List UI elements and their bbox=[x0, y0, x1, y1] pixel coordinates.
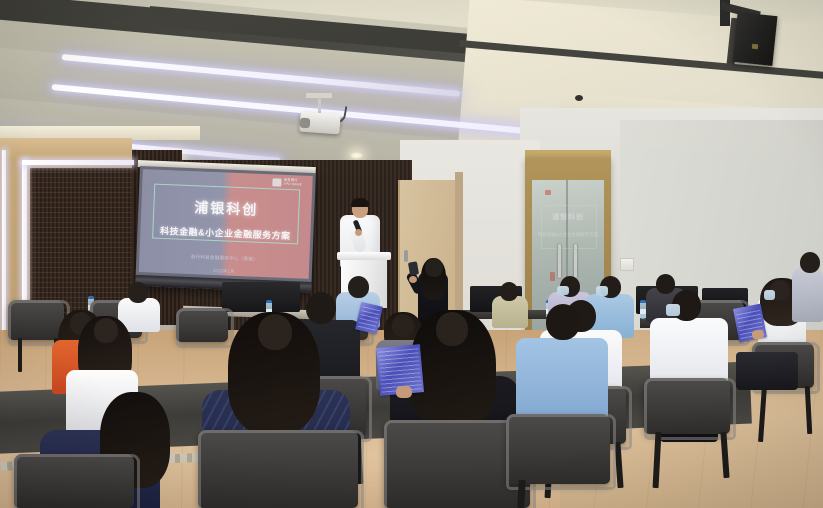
wall-led-strip-horizontal bbox=[22, 160, 134, 165]
chair-leg bbox=[18, 338, 22, 372]
chair-8[interactable] bbox=[506, 414, 610, 484]
downlight-3 bbox=[350, 152, 363, 159]
photographer-head bbox=[425, 258, 443, 277]
attendee-head-4 bbox=[306, 292, 336, 324]
presentation-slide: 浦发银行 SPD BANK 浦银科创 科技金融&小企业金融服务方案 各行科技金融… bbox=[139, 169, 313, 279]
door-frame bbox=[455, 172, 463, 322]
wall-speaker bbox=[732, 12, 777, 66]
glass-reflection-title: 浦银科创 bbox=[538, 212, 598, 222]
bank-logo-line2: SPD BANK bbox=[283, 182, 302, 187]
emergency-light-icon bbox=[545, 190, 551, 195]
chair-empty-1[interactable] bbox=[8, 300, 64, 340]
attendee-head-edge bbox=[800, 252, 820, 273]
face-mask-13 bbox=[764, 290, 775, 300]
presenter-hand bbox=[355, 229, 362, 236]
attendee-head-3 bbox=[258, 314, 292, 350]
attendee-head-15 bbox=[656, 274, 675, 294]
ceiling-sensor-icon bbox=[575, 95, 583, 101]
slide-organization: 各行科技金融服务中心（原稿） bbox=[139, 252, 309, 265]
glass-reflection-subtitle: 科技金融&小企业金融服务方案 bbox=[536, 232, 600, 238]
face-mask-12 bbox=[596, 286, 608, 296]
conference-room-photo: 浦发银行 SPD BANK 浦银科创 科技金融&小企业金融服务方案 各行科技金融… bbox=[0, 0, 823, 508]
wood-wall-frame-top bbox=[0, 138, 132, 160]
chair-front-left[interactable] bbox=[14, 454, 134, 508]
chair-leg bbox=[517, 480, 525, 508]
projector-lens-icon bbox=[300, 118, 311, 129]
chair-empty-3[interactable] bbox=[176, 308, 228, 342]
attendee-head-2 bbox=[94, 318, 118, 343]
attendee-head-7 bbox=[348, 276, 369, 298]
glass-door-handle-right[interactable] bbox=[574, 244, 577, 278]
door-handle-icon[interactable] bbox=[404, 250, 408, 262]
projection-screen: 浦发银行 SPD BANK 浦银科创 科技金融&小企业金融服务方案 各行科技金融… bbox=[135, 166, 316, 293]
fire-extinguisher-icon bbox=[550, 272, 555, 281]
face-mask-11 bbox=[557, 286, 569, 295]
attendee-head-6 bbox=[436, 312, 468, 346]
wall-led-strip-edge bbox=[2, 150, 6, 340]
bank-logo-mark-icon bbox=[272, 178, 281, 186]
bank-logo: 浦发银行 SPD BANK bbox=[272, 177, 306, 187]
light-switch[interactable] bbox=[620, 258, 634, 271]
photographer-hand bbox=[409, 276, 417, 283]
attendee-head-8 bbox=[546, 304, 580, 340]
face-mask-10 bbox=[666, 304, 680, 316]
podium-top bbox=[337, 252, 391, 260]
attendee-head-aux bbox=[500, 282, 518, 301]
presenter-hair bbox=[351, 198, 369, 207]
speaker-badge-icon bbox=[752, 44, 758, 50]
attendee-hand-6 bbox=[396, 386, 412, 398]
chair-3[interactable] bbox=[198, 430, 358, 508]
attendee-torso-edge bbox=[792, 268, 823, 322]
chair-10[interactable] bbox=[644, 378, 730, 434]
glass-door-handle-left[interactable] bbox=[558, 244, 561, 278]
attendee-legs-edge bbox=[736, 352, 798, 390]
attendee-head-14 bbox=[128, 282, 148, 303]
monitor-1 bbox=[222, 282, 300, 312]
attendee-head-5 bbox=[392, 314, 414, 337]
